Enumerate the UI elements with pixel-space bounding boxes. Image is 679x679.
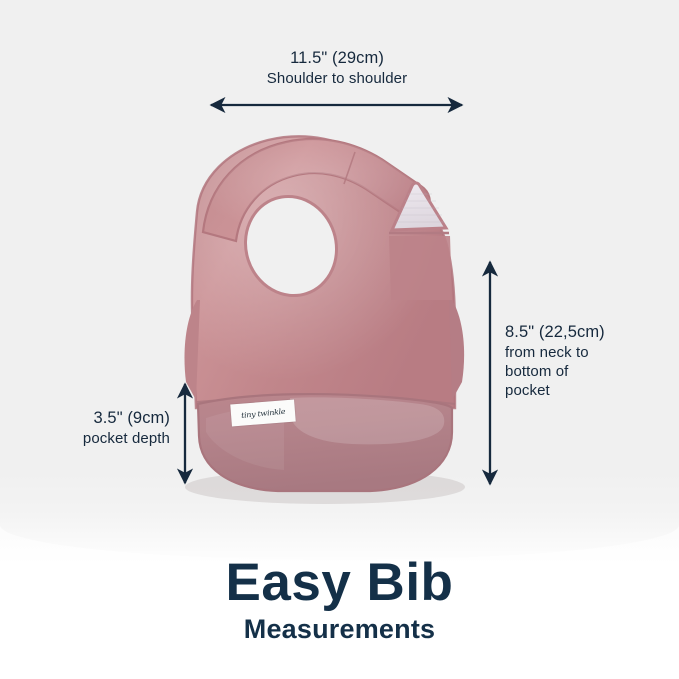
width-dimension-description: Shoulder to shoulder: [208, 69, 466, 88]
product-subtitle: Measurements: [0, 614, 679, 645]
product-title: Easy Bib: [0, 556, 679, 610]
height-dimension-description-line-2: bottom of: [505, 362, 665, 381]
height-dimension-label: 8.5" (22,5cm) from neck to bottom of poc…: [505, 322, 665, 401]
pocket-depth-dimension-value: 3.5" (9cm): [30, 408, 170, 429]
pocket-depth-dimension-description: pocket depth: [30, 429, 170, 448]
width-dimension-label: 11.5" (29cm) Shoulder to shoulder: [208, 48, 466, 88]
title-block: Easy Bib Measurements: [0, 556, 679, 645]
height-dimension-value: 8.5" (22,5cm): [505, 322, 665, 343]
measurement-diagram: tiny twinkle 11.5" (29cm) Shoulder to sh…: [0, 0, 679, 679]
height-dimension-description-line-3: pocket: [505, 381, 665, 400]
width-dimension-value: 11.5" (29cm): [208, 48, 466, 69]
height-dimension-description-line-1: from neck to: [505, 343, 665, 362]
pocket-depth-dimension-label: 3.5" (9cm) pocket depth: [30, 408, 170, 448]
